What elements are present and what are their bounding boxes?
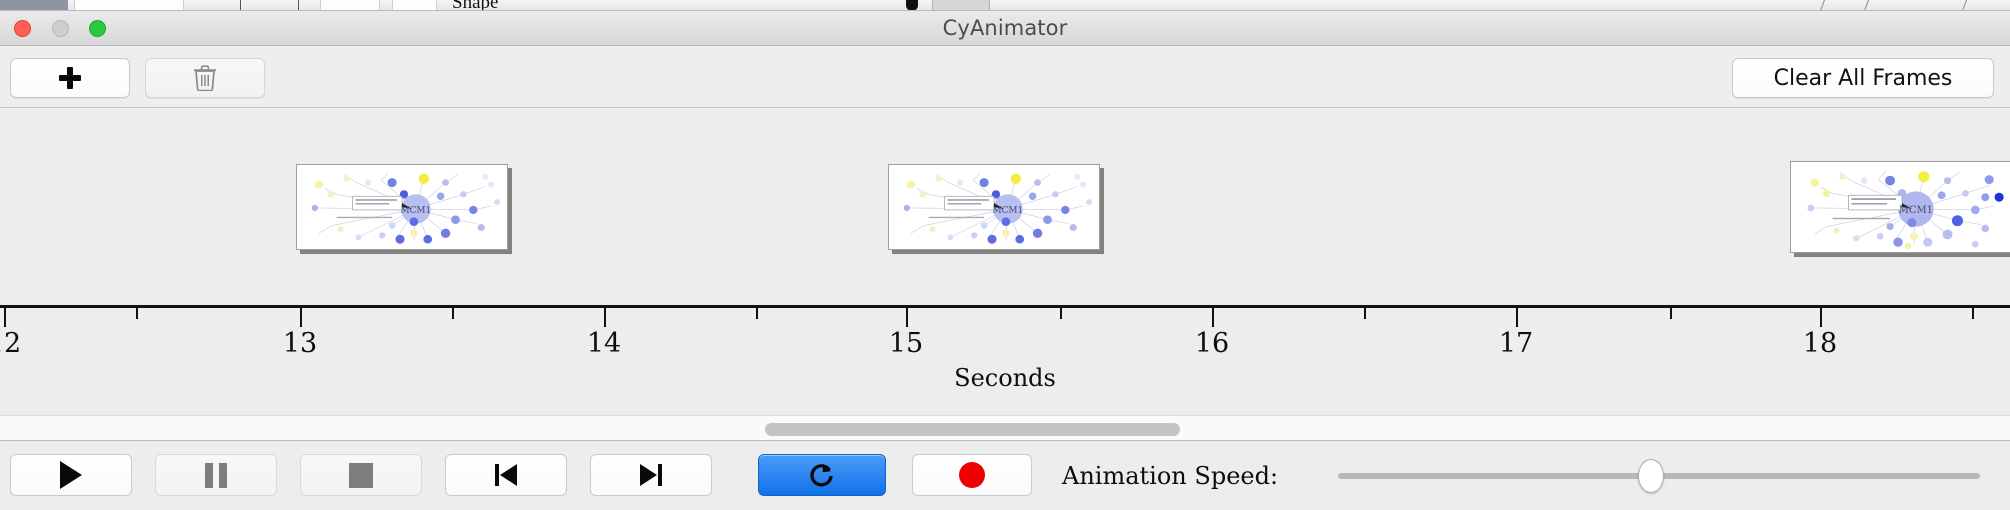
timeline-scrollbar[interactable]	[0, 415, 2010, 441]
play-button[interactable]	[10, 454, 132, 496]
skip-to-end-button[interactable]	[590, 454, 712, 496]
svg-text:MCM1: MCM1	[401, 206, 432, 216]
background-app-divider	[1862, 0, 1872, 11]
background-app-tick	[240, 0, 241, 11]
network-graph-preview: MCM1	[889, 165, 1099, 249]
axis-tick-major	[1212, 308, 1214, 327]
frame-thumbnail-2[interactable]: MCM1	[888, 164, 1100, 250]
playback-control-bar: Animation Speed:	[0, 442, 2010, 510]
axis-tick-label: 13	[283, 328, 317, 359]
axis-tick-minor	[1670, 308, 1672, 319]
network-graph-preview: MCM1	[297, 165, 507, 249]
clear-all-frames-button[interactable]: Clear All Frames	[1732, 58, 1994, 98]
svg-text:MCM1: MCM1	[993, 206, 1024, 216]
timeline-scrollbar-thumb[interactable]	[765, 423, 1180, 436]
play-icon	[60, 461, 82, 489]
loop-icon	[808, 461, 836, 489]
axis-tick-major	[1820, 308, 1822, 327]
stop-button[interactable]	[300, 454, 422, 496]
record-button[interactable]	[912, 454, 1032, 496]
svg-text:MCM1: MCM1	[1899, 205, 1933, 216]
delete-frame-button[interactable]	[145, 58, 265, 98]
window-title: CyAnimator	[0, 11, 2010, 46]
axis-tick-minor	[1060, 308, 1062, 319]
skip-start-icon	[493, 462, 519, 488]
axis-tick-label: 18	[1803, 328, 1837, 359]
axis-tick-major	[4, 308, 6, 327]
slider-thumb[interactable]	[1638, 459, 1664, 493]
background-app-divider	[1818, 0, 1828, 11]
frame-thumbnail-3[interactable]: MCM1	[1790, 161, 2010, 253]
axis-tick-label: 17	[1499, 328, 1533, 359]
background-app-chip	[0, 0, 68, 11]
axis-tick-label: 12	[0, 328, 21, 359]
axis-tick-major	[906, 308, 908, 327]
add-frame-button[interactable]	[10, 58, 130, 98]
title-bar[interactable]: CyAnimator	[0, 11, 2010, 46]
pause-icon	[205, 463, 227, 488]
background-app-chip	[932, 0, 990, 11]
skip-to-start-button[interactable]	[445, 454, 567, 496]
background-app-segment	[74, 0, 184, 11]
background-app-strip: Shape	[0, 0, 2010, 11]
background-app-segment	[320, 0, 380, 11]
stop-icon	[349, 463, 373, 488]
background-app-segment	[392, 0, 437, 11]
background-app-divider	[1960, 0, 1970, 11]
cyanimator-window: Shape CyAnimator Clear All Frames	[0, 0, 2010, 510]
toolbar: Clear All Frames	[0, 46, 2010, 108]
frame-thumbnail-1[interactable]: MCM1	[296, 164, 508, 250]
axis-tick-label: 14	[587, 328, 621, 359]
timeline-panel[interactable]: MCM1	[0, 109, 2010, 415]
animation-speed-label: Animation Speed:	[1062, 462, 1278, 490]
animation-speed-slider[interactable]	[1338, 473, 1980, 479]
axis-caption: Seconds	[0, 364, 2010, 392]
axis-tick-minor	[452, 308, 454, 319]
axis-tick-major	[1516, 308, 1518, 327]
axis-tick-label: 15	[889, 328, 923, 359]
clear-all-frames-label: Clear All Frames	[1774, 66, 1953, 91]
loop-button[interactable]	[758, 454, 886, 496]
axis-tick-minor	[1972, 308, 1974, 319]
trash-icon	[194, 65, 216, 91]
network-graph-preview: MCM1	[1791, 162, 2010, 252]
background-app-cursor	[906, 0, 918, 11]
axis-tick-minor	[756, 308, 758, 319]
axis-tick-major	[604, 308, 606, 327]
axis-tick-minor	[136, 308, 138, 319]
pause-button[interactable]	[155, 454, 277, 496]
skip-end-icon	[638, 462, 664, 488]
background-app-tick	[298, 0, 299, 11]
axis-tick-minor	[1364, 308, 1366, 319]
record-icon	[959, 462, 985, 488]
axis-tick-label: 16	[1195, 328, 1229, 359]
axis-tick-major	[300, 308, 302, 327]
background-app-label: Shape	[452, 0, 498, 11]
plus-icon	[58, 66, 82, 90]
